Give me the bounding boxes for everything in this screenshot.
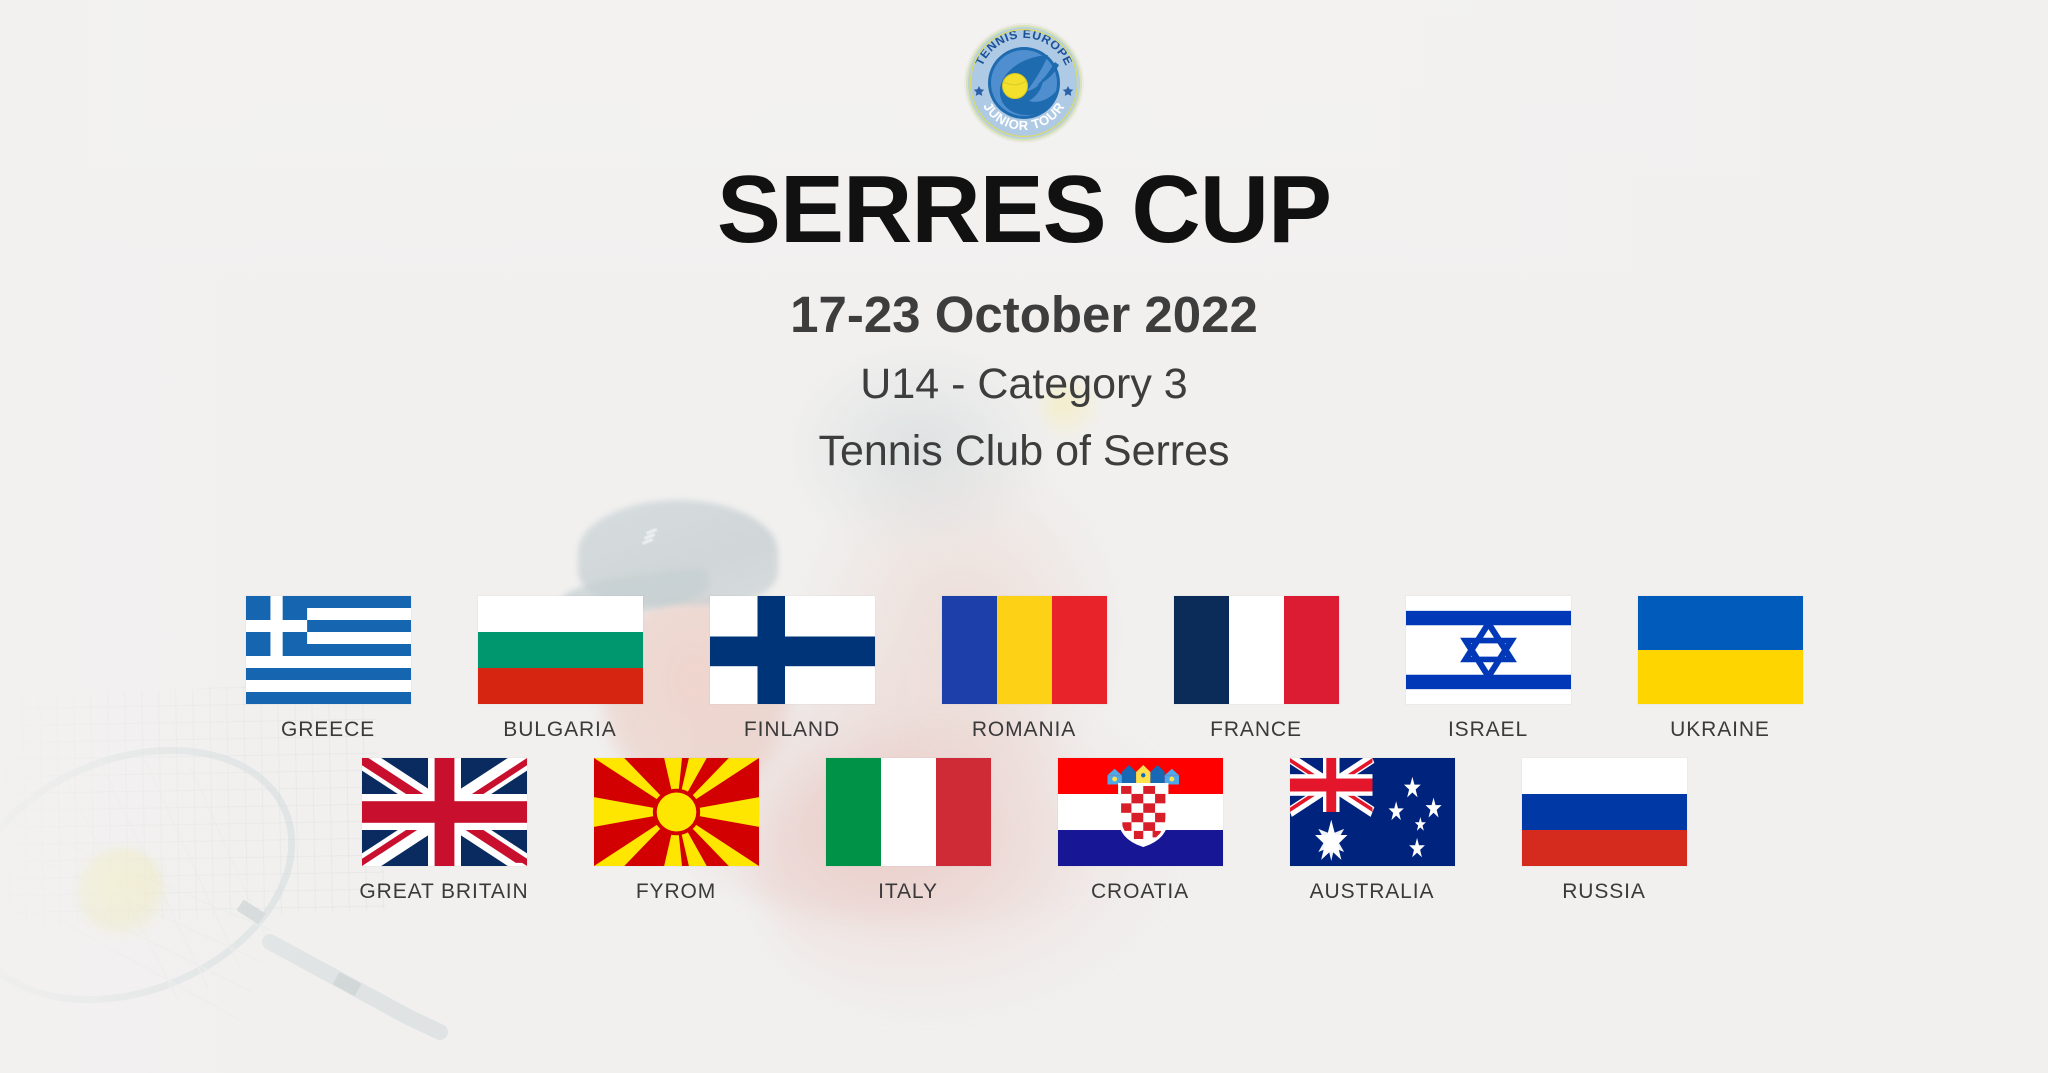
flag-cell-italy: ITALY: [826, 758, 991, 904]
flag-croatia: [1058, 758, 1223, 866]
flag-ukraine: [1638, 596, 1803, 704]
flag-label: UKRAINE: [1670, 718, 1770, 742]
flag-label: GREECE: [281, 718, 375, 742]
flag-france: [1174, 596, 1339, 704]
flag-label: FYROM: [636, 880, 716, 904]
flag-cell-ukraine: UKRAINE: [1638, 596, 1803, 742]
logo-icon: TENNIS EUROPE JUNIOR TOUR: [963, 22, 1085, 144]
flag-fyrom: [594, 758, 759, 866]
flag-cell-greece: GREECE: [246, 596, 411, 742]
page-title: SERRES CUP: [0, 158, 2048, 262]
background-cap-logo-icon: [640, 520, 696, 550]
event-category: U14 - Category 3: [0, 359, 2048, 411]
flag-cell-bulgaria: BULGARIA: [478, 596, 643, 742]
flag-romania: [942, 596, 1107, 704]
flag-cell-israel: ISRAEL: [1406, 596, 1571, 742]
flag-italy: [826, 758, 991, 866]
flag-finland: [710, 596, 875, 704]
flag-cell-australia: AUSTRALIA: [1290, 758, 1455, 904]
flag-greece: [246, 596, 411, 704]
flag-cell-russia: RUSSIA: [1522, 758, 1687, 904]
flag-cell-finland: FINLAND: [710, 596, 875, 742]
background-player-cap: [578, 500, 778, 605]
flag-label: AUSTRALIA: [1310, 880, 1435, 904]
flag-label: ISRAEL: [1448, 718, 1528, 742]
flag-israel: [1406, 596, 1571, 704]
tournament-poster: TENNIS EUROPE JUNIOR TOUR SERRES CUP 17-…: [0, 0, 2048, 1073]
flag-label: FINLAND: [744, 718, 840, 742]
flag-great-britain: [362, 758, 527, 866]
flag-label: CROATIA: [1091, 880, 1189, 904]
participating-nations: GREECE BULGARIA: [0, 596, 2048, 904]
flag-bulgaria: [478, 596, 643, 704]
flag-label: ITALY: [878, 880, 938, 904]
flag-australia: [1290, 758, 1455, 866]
event-venue: Tennis Club of Serres: [0, 426, 2048, 478]
flag-russia: [1522, 758, 1687, 866]
poster-text-block: SERRES CUP 17-23 October 2022 U14 - Cate…: [0, 158, 2048, 478]
flag-cell-croatia: CROATIA: [1058, 758, 1223, 904]
flag-label: GREAT BRITAIN: [359, 880, 528, 904]
flag-cell-france: FRANCE: [1174, 596, 1339, 742]
flag-label: RUSSIA: [1562, 880, 1646, 904]
flag-cell-fyrom: FYROM: [594, 758, 759, 904]
flag-cell-great-britain: GREAT BRITAIN: [362, 758, 527, 904]
flag-label: ROMANIA: [972, 718, 1076, 742]
flag-label: FRANCE: [1210, 718, 1302, 742]
flag-row-1: GREECE BULGARIA: [0, 596, 2048, 742]
flag-row-2: GREAT BRITAIN: [0, 758, 2048, 904]
tennis-europe-junior-tour-logo: TENNIS EUROPE JUNIOR TOUR: [963, 22, 1085, 144]
event-dates: 17-23 October 2022: [0, 284, 2048, 345]
flag-cell-romania: ROMANIA: [942, 596, 1107, 742]
flag-label: BULGARIA: [503, 718, 616, 742]
